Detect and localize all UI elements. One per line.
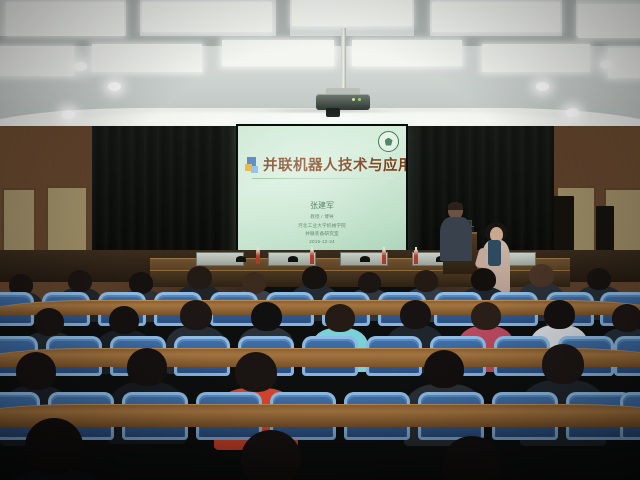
audience-head [612, 304, 640, 332]
audience-head [358, 272, 381, 293]
slide-author: 张建军 [238, 200, 406, 211]
water-bottle [382, 250, 386, 264]
audience-member [420, 436, 524, 480]
ceiling-beam [562, 0, 576, 48]
ceiling-projector [316, 94, 370, 110]
water-bottle [256, 250, 260, 264]
lecture-hall-photo: 并联机器人技术与应用 张建军 教授 / 博导 河北工业大学机械学院 并联装备研究… [0, 0, 640, 480]
water-bottle [414, 250, 418, 264]
audience-head [529, 264, 554, 287]
audience-head [542, 344, 584, 384]
slide-divider [252, 178, 394, 179]
audience-head [235, 352, 277, 392]
audience-head [400, 300, 431, 329]
audience-head [302, 266, 327, 289]
desk-microphone [288, 256, 298, 262]
ceiling-light-panel [292, 0, 412, 26]
slide-affiliation-1: 河北工业大学机械学院 [238, 223, 406, 229]
ceiling-beam [126, 0, 140, 46]
projector-rod [341, 28, 346, 90]
university-seal-icon [378, 131, 399, 152]
audience-member [216, 430, 326, 480]
audience-head [471, 268, 496, 291]
audience-head [16, 352, 56, 390]
ceiling-light-panel [142, 2, 272, 32]
audience-head [180, 300, 212, 330]
audience-head [109, 306, 139, 334]
water-bottle [310, 250, 314, 264]
audience-head [25, 418, 83, 474]
presentation-slide: 并联机器人技术与应用 张建军 教授 / 博导 河北工业大学机械学院 并联装备研究… [238, 126, 406, 262]
audience-head [414, 270, 438, 292]
audience-head [34, 308, 64, 336]
recessed-downlight [536, 82, 549, 91]
recessed-downlight [566, 108, 579, 117]
ceiling [0, 0, 640, 132]
ceiling-light-panel [92, 44, 202, 72]
slide-date: 2015-12-24 [238, 239, 406, 244]
audience-head [68, 270, 92, 292]
audience-head [443, 436, 501, 480]
audience-head [325, 304, 355, 332]
audience-head [187, 266, 212, 289]
recessed-downlight [62, 110, 75, 119]
audience-head [424, 350, 464, 388]
recessed-downlight [74, 62, 87, 71]
ceiling-light-panel [578, 4, 640, 38]
slide-title: 并联机器人技术与应用 [263, 154, 398, 175]
audience-head [241, 430, 301, 480]
ceiling-light-panel [352, 40, 462, 66]
ceiling-light-panel [0, 46, 74, 76]
audience-head [544, 300, 575, 329]
recessed-downlight [108, 82, 121, 91]
ceiling-beam [276, 0, 290, 44]
audience-head [127, 348, 167, 386]
speaker-at-lectern [440, 202, 472, 262]
desk-microphone [360, 256, 370, 262]
ceiling-light-panel [222, 40, 334, 66]
projection-screen: 并联机器人技术与应用 张建军 教授 / 博导 河北工业大学机械学院 并联装备研究… [236, 124, 408, 264]
audience-head [242, 272, 266, 294]
projector-lens [326, 108, 340, 117]
slide-author-role: 教授 / 博导 [238, 214, 406, 220]
ceiling-light-panel [432, 2, 560, 32]
audience-head [587, 268, 611, 290]
projector-led [358, 98, 361, 101]
slide-decoration-icon [245, 157, 261, 173]
audience-head [471, 302, 501, 330]
ceiling-light-panel [482, 44, 590, 72]
slide-affiliation-2: 并联装备研究室 [238, 231, 406, 237]
audience-head [129, 272, 153, 294]
projector-led [352, 98, 355, 101]
audience-head [251, 302, 282, 331]
audience-member [2, 418, 106, 480]
recessed-downlight [600, 60, 613, 69]
ceiling-light-panel [6, 2, 124, 36]
desk-microphone [236, 256, 246, 262]
